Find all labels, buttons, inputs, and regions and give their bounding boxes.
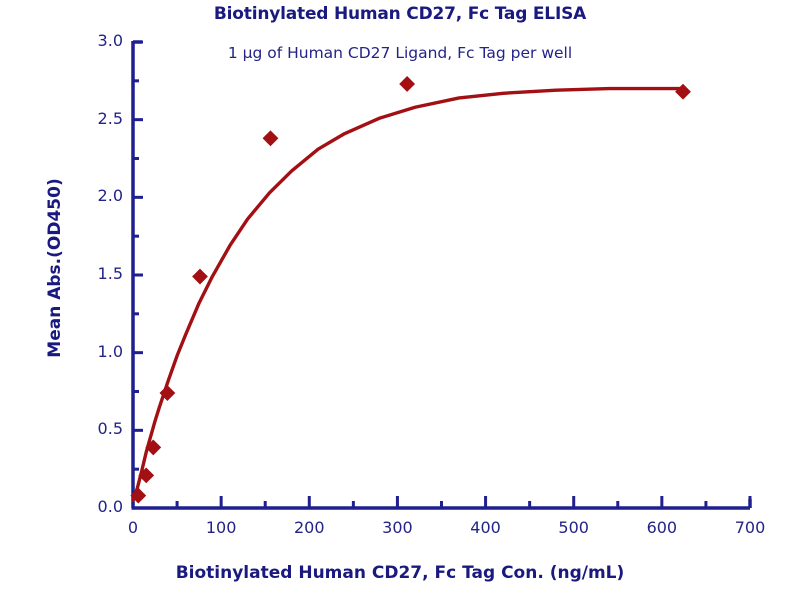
x-tick-label: 600: [632, 518, 692, 537]
data-points: [131, 77, 690, 503]
data-point-marker: [193, 269, 207, 283]
x-tick-label: 300: [367, 518, 427, 537]
y-tick-label: 2.0: [79, 186, 123, 205]
data-point-marker: [400, 77, 414, 91]
y-tick-label: 0.5: [79, 419, 123, 438]
y-tick-label: 1.0: [79, 342, 123, 361]
y-tick-label: 0.0: [79, 497, 123, 516]
chart-container: Biotinylated Human CD27, Fc Tag ELISA 1 …: [0, 0, 800, 600]
data-point-marker: [263, 131, 277, 145]
x-tick-label: 100: [191, 518, 251, 537]
x-tick-label: 500: [544, 518, 604, 537]
x-tick-label: 700: [720, 518, 780, 537]
axes: [132, 41, 751, 508]
y-tick-label: 1.5: [79, 264, 123, 283]
y-tick-label: 2.5: [79, 109, 123, 128]
curve-path: [133, 89, 683, 501]
fit-curve: [133, 89, 683, 501]
x-tick-label: 0: [103, 518, 163, 537]
data-point-marker: [676, 85, 690, 99]
x-tick-label: 400: [456, 518, 516, 537]
y-tick-label: 3.0: [79, 31, 123, 50]
x-tick-label: 200: [279, 518, 339, 537]
